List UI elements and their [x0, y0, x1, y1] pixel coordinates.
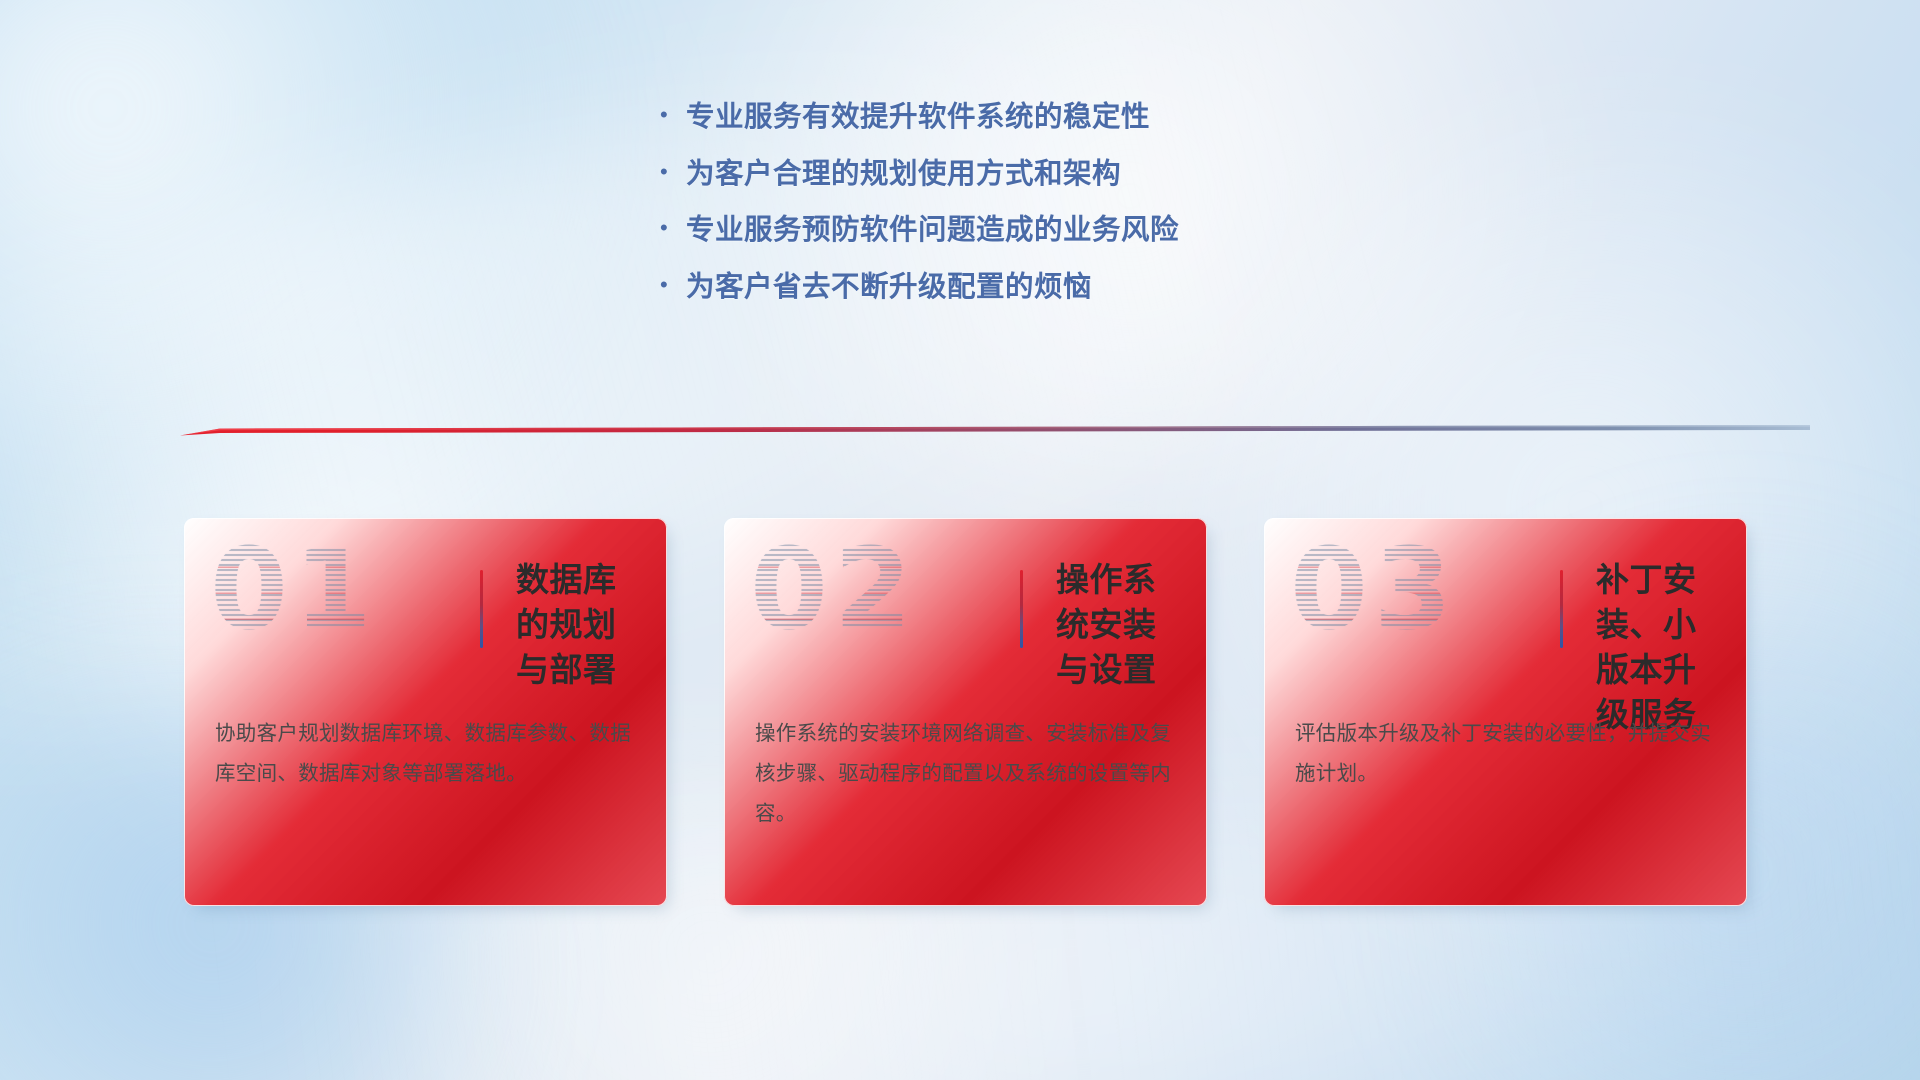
bullet-list: • 专业服务有效提升软件系统的稳定性 • 为客户合理的规划使用方式和架构 • 专… — [660, 100, 1420, 327]
card-accent-rule — [1020, 570, 1023, 648]
section-divider — [180, 423, 1810, 439]
card-body-text: 评估版本升级及补丁安装的必要性，并提交实施计划。 — [1295, 714, 1719, 794]
card-accent-rule — [1560, 570, 1563, 648]
bullet-text: 专业服务有效提升软件系统的稳定性 — [686, 100, 1150, 136]
card-body-text: 操作系统的安装环境网络调查、安装标准及复核步骤、驱动程序的配置以及系统的设置等内… — [755, 714, 1179, 834]
bullet-text: 为客户合理的规划使用方式和架构 — [686, 157, 1121, 193]
list-item: • 专业服务有效提升软件系统的稳定性 — [660, 100, 1420, 136]
card-body-text: 协助客户规划数据库环境、数据库参数、数据库空间、数据库对象等部署落地。 — [215, 714, 639, 794]
bullet-dot-icon: • — [660, 104, 686, 126]
list-item: • 为客户合理的规划使用方式和架构 — [660, 157, 1420, 193]
card-list: 01 01 数据库的规划与部署 协助客户规划数据库环境、数据库参数、数据库空间、… — [184, 518, 1747, 906]
card-title: 数据库的规划与部署 — [516, 558, 644, 693]
card-title: 操作系统安装与设置 — [1056, 558, 1184, 693]
list-item: • 为客户省去不断升级配置的烦恼 — [660, 270, 1420, 306]
card-03[interactable]: 03 03 补丁安装、小版本升级服务 评估版本升级及补丁安装的必要性，并提交实施… — [1264, 518, 1747, 906]
card-01[interactable]: 01 01 数据库的规划与部署 协助客户规划数据库环境、数据库参数、数据库空间、… — [184, 518, 667, 906]
card-header: 01 01 数据库的规划与部署 — [184, 518, 667, 700]
bullet-dot-icon: • — [660, 161, 686, 183]
bullet-text: 为客户省去不断升级配置的烦恼 — [686, 270, 1092, 306]
card-header: 02 02 操作系统安装与设置 — [724, 518, 1207, 700]
divider-line-icon — [180, 423, 1810, 439]
list-item: • 专业服务预防软件问题造成的业务风险 — [660, 213, 1420, 249]
card-number-tint: 01 — [210, 534, 378, 646]
card-number-tint: 02 — [750, 534, 918, 646]
card-header: 03 03 补丁安装、小版本升级服务 — [1264, 518, 1747, 700]
bullet-dot-icon: • — [660, 274, 686, 296]
card-title: 补丁安装、小版本升级服务 — [1596, 558, 1724, 738]
card-02[interactable]: 02 02 操作系统安装与设置 操作系统的安装环境网络调查、安装标准及复核步骤、… — [724, 518, 1207, 906]
card-accent-rule — [480, 570, 483, 648]
card-number-tint: 03 — [1290, 534, 1458, 646]
bullet-text: 专业服务预防软件问题造成的业务风险 — [686, 213, 1179, 249]
bullet-dot-icon: • — [660, 217, 686, 239]
